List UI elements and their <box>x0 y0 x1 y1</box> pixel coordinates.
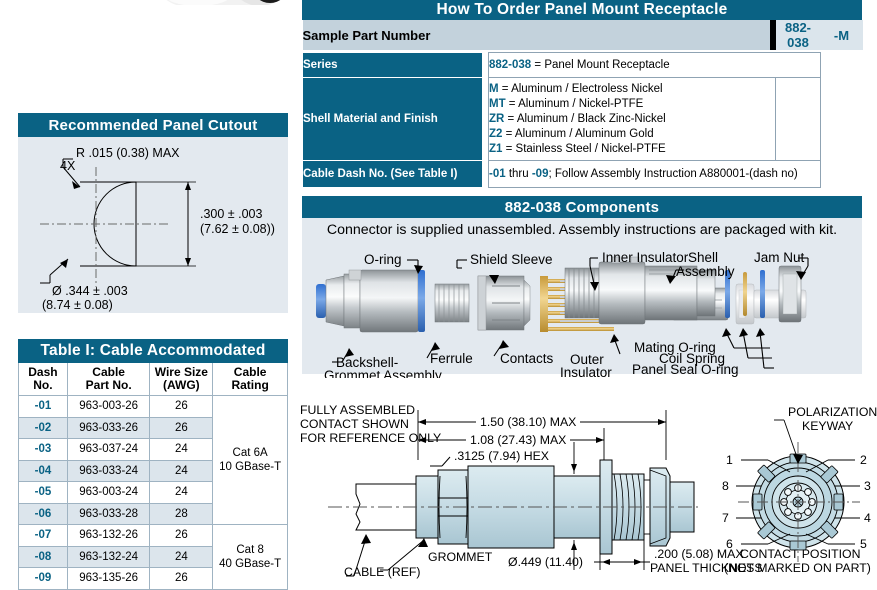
arrow-inner-insulator <box>590 282 599 291</box>
table-one-section: Table I: Cable Accommodated Dash No. Cab… <box>18 339 288 590</box>
label-cable: CABLE (REF) <box>344 565 421 579</box>
shell-option: Z1 = Stainless Steel / Nickel-PTFE <box>489 142 775 157</box>
cell-awg: 24 <box>150 546 213 568</box>
drawing-note-1: FULLY ASSEMBLED <box>300 403 415 417</box>
label-grommet: GROMMET <box>428 550 493 564</box>
dim-body: 1.08 (27.43) MAX <box>470 433 566 447</box>
cutout-height-2: (7.62 ± 0.08)) <box>200 222 275 236</box>
callout-backshell-2: Grommet Assembly <box>324 368 442 378</box>
callout-oring: O-ring <box>364 252 402 267</box>
order-col-dash-blank <box>821 53 863 188</box>
order-label-shell: Shell Material and Finish <box>303 78 483 161</box>
dim-hex: .3125 (7.94) HEX <box>454 449 549 463</box>
drawing-note-2: CONTACT SHOWN <box>300 417 409 431</box>
product-photo-svg <box>150 0 310 5</box>
sample-value-series: 882-038 <box>776 20 821 50</box>
cutout-dia-2: (8.74 ± 0.08) <box>42 298 113 312</box>
callout-outer-2: Insulator <box>560 365 612 378</box>
arrow-overall-left <box>418 419 426 425</box>
arrow-outer-insulator <box>610 334 619 343</box>
callout-contacts: Contacts <box>500 351 554 366</box>
table-one-header-row: Dash No. Cable Part No. Wire Size (AWG) … <box>19 363 288 396</box>
components-callout-svg: O-ring Shield Sleeve Inner Insulator She… <box>302 244 862 378</box>
how-to-order-header: How To Order Panel Mount Receptacle <box>302 0 862 20</box>
keyway-pos-8: 8 <box>722 479 729 493</box>
arrow-panel-left <box>602 559 610 565</box>
cell-part-no: 963-132-24 <box>67 546 150 568</box>
keyway-pos-7: 7 <box>722 511 729 525</box>
order-col-shell-blank <box>776 78 821 161</box>
arrow-panel-right <box>634 559 642 565</box>
order-row-cable-dash: Cable Dash No. (See Table I) -01 thru -0… <box>303 161 863 188</box>
assembly-drawing-section: FULLY ASSEMBLED CONTACT SHOWN FOR REFERE… <box>298 398 877 585</box>
cell-dash: -05 <box>19 482 68 504</box>
cell-part-no: 963-033-28 <box>67 503 150 525</box>
how-to-order-section: How To Order Panel Mount Receptacle Samp… <box>302 0 862 188</box>
keyway-caption-1: CONTACT POSITION <box>740 547 860 561</box>
cell-part-no: 963-003-24 <box>67 482 150 504</box>
shell-option: ZR = Aluminum / Black Zinc-Nickel <box>489 112 775 127</box>
table-one-header: Table I: Cable Accommodated <box>18 339 288 363</box>
arrow-shield-sleeve <box>489 275 499 284</box>
cell-dash: -04 <box>19 460 68 482</box>
table-one: Dash No. Cable Part No. Wire Size (AWG) … <box>18 363 288 590</box>
keyway-pos-2: 2 <box>860 453 867 467</box>
drawing-note-3: FOR REFERENCE ONLY <box>300 431 441 445</box>
cell-dash: -03 <box>19 439 68 461</box>
keyway-title-2: KEYWAY <box>802 419 853 433</box>
callout-panel-seal: Panel Seal O-ring <box>632 362 739 377</box>
callout-jam-nut: Jam Nut <box>754 250 805 265</box>
keyway-pos-1: 1 <box>726 453 733 467</box>
shell-option: Z2 = Aluminum / Aluminum Gold <box>489 127 775 142</box>
arrow-mating-oring <box>722 328 731 337</box>
series-text: = Panel Mount Receptacle <box>531 59 669 71</box>
arrow-oring <box>414 265 423 274</box>
arrow-cable <box>361 534 371 544</box>
arrow-contacts <box>499 340 509 349</box>
arrow-dia-bot <box>571 542 577 550</box>
sample-part-number-spacer <box>489 20 776 50</box>
cell-awg: 26 <box>150 417 213 439</box>
arrow-coil-spring <box>739 328 748 337</box>
cell-part-no: 963-033-26 <box>67 417 150 439</box>
keyway-pos-5: 5 <box>860 537 867 551</box>
order-label-series: Series <box>303 53 483 78</box>
cell-awg: 26 <box>150 568 213 590</box>
cell-rating-cat8: Cat 8 40 GBase-T <box>213 525 288 590</box>
keyway-title-1: POLARIZATION <box>788 405 877 419</box>
arrow-grommet <box>418 538 428 547</box>
arrow-down <box>185 258 191 266</box>
order-row-shell: Shell Material and Finish M = Aluminum /… <box>303 78 863 161</box>
cell-awg: 24 <box>150 460 213 482</box>
cell-part-no: 963-037-24 <box>67 439 150 461</box>
shell-option: M = Aluminum / Electroless Nickel <box>489 82 775 97</box>
dim-overall: 1.50 (38.10) MAX <box>480 415 576 429</box>
dim-dia: Ø.449 (11.40) <box>508 555 583 569</box>
cell-awg: 24 <box>150 482 213 504</box>
callout-shell-2: Assembly <box>676 264 735 279</box>
sample-part-number-row: Sample Part Number 882-038 -M <box>303 20 863 50</box>
panel-cutout-header: Recommended Panel Cutout <box>18 113 288 137</box>
components-note: Connector is supplied unassembled. Assem… <box>302 218 862 240</box>
panel-cutout-drawing: R .015 (0.38) MAX 4X .300 ± .003 (7.62 ±… <box>18 137 288 313</box>
keyway-face-view: 1 2 3 4 5 6 7 8 POLARIZATION KEYWAY CONT… <box>722 405 877 575</box>
cell-part-no: 963-132-26 <box>67 525 150 547</box>
arrow-jam-nut <box>796 271 806 280</box>
assembly-drawing-svg: FULLY ASSEMBLED CONTACT SHOWN FOR REFERE… <box>298 398 877 585</box>
cell-part-no: 963-033-24 <box>67 460 150 482</box>
arrow-shell <box>666 275 676 284</box>
keyway-pos-4: 4 <box>864 511 871 525</box>
cell-awg: 24 <box>150 439 213 461</box>
callout-shell-1: Shell <box>688 250 718 265</box>
arrow-ferrule <box>431 342 440 351</box>
table-row: -01 963-003-26 26 Cat 6A 10 GBase-T <box>19 396 288 418</box>
series-code: 882-038 <box>489 59 531 71</box>
arrow-up <box>185 182 191 190</box>
order-label-cable-dash: Cable Dash No. (See Table I) <box>303 161 483 188</box>
callout-inner-insulator: Inner Insulator <box>602 250 689 265</box>
order-value-shell: M = Aluminum / Electroless Nickel MT = A… <box>489 78 776 161</box>
components-section: 882-038 Components Connector is supplied… <box>302 196 862 374</box>
sample-part-number-label: Sample Part Number <box>303 20 489 50</box>
cutout-dia-1: Ø .344 ± .003 <box>52 284 128 298</box>
panel-cutout-section: Recommended Panel Cutout <box>18 113 288 313</box>
keyway-pos-6: 6 <box>726 537 733 551</box>
arrow-body-right <box>596 437 604 443</box>
cell-dash: -09 <box>19 568 68 590</box>
arrow-dia-top <box>571 464 577 472</box>
cell-dash: -07 <box>19 525 68 547</box>
cell-part-no: 963-135-26 <box>67 568 150 590</box>
cell-dash: -01 <box>19 396 68 418</box>
callout-shield-sleeve: Shield Sleeve <box>470 252 553 267</box>
cutout-radius-qty: 4X <box>60 159 76 173</box>
components-callouts: O-ring Shield Sleeve Inner Insulator She… <box>302 244 862 378</box>
cell-part-no: 963-003-26 <box>67 396 150 418</box>
cell-awg: 26 <box>150 525 213 547</box>
col-cable-rating: Cable Rating <box>213 363 288 396</box>
arrow-panel-seal <box>756 328 765 337</box>
keyway-caption-2: (NOT MARKED ON PART) <box>724 561 871 575</box>
cutout-height-1: .300 ± .003 <box>200 207 263 221</box>
table-row: -07 963-132-26 26 Cat 8 40 GBase-T <box>19 525 288 547</box>
order-value-cable-dash: -01 thru -09; Follow Assembly Instructio… <box>489 161 821 188</box>
cell-awg: 26 <box>150 396 213 418</box>
col-cable-part-no: Cable Part No. <box>67 363 150 396</box>
arrow-diameter <box>60 259 68 268</box>
col-dash-no: Dash No. <box>19 363 68 396</box>
order-value-series: 882-038 = Panel Mount Receptacle <box>489 53 821 78</box>
cell-dash: -06 <box>19 503 68 525</box>
panel-cutout-body: R .015 (0.38) MAX 4X .300 ± .003 (7.62 ±… <box>18 137 288 313</box>
cutout-radius-note: R .015 (0.38) MAX <box>76 146 180 160</box>
shell-option: MT = Aluminum / Nickel-PTFE <box>489 97 775 112</box>
col-wire-size: Wire Size (AWG) <box>150 363 213 396</box>
callout-ferrule: Ferrule <box>430 351 473 366</box>
cell-rating-cat6a: Cat 6A 10 GBase-T <box>213 396 288 525</box>
cell-dash: -08 <box>19 546 68 568</box>
sample-value-shell: -M <box>821 20 863 50</box>
product-photo <box>150 0 310 5</box>
keyway-pos-3: 3 <box>864 479 871 493</box>
arrow-overall-right <box>658 419 666 425</box>
components-header: 882-038 Components <box>302 196 862 218</box>
cell-dash: -02 <box>19 417 68 439</box>
order-row-series: Series 882-038 = Panel Mount Receptacle <box>303 53 863 78</box>
cell-awg: 28 <box>150 503 213 525</box>
sample-divider-block <box>770 20 776 50</box>
how-to-order-table: Sample Part Number 882-038 -M Series 882… <box>302 20 863 188</box>
